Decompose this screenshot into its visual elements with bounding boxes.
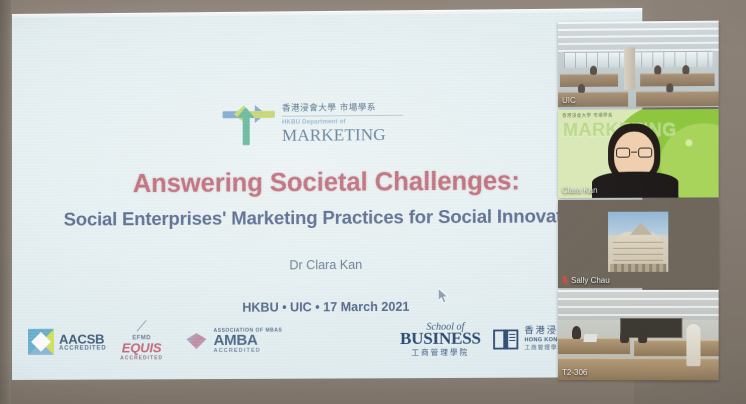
- slide-subtitle: Social Enterprises' Marketing Practices …: [12, 205, 642, 231]
- video-tile-clara-kan[interactable]: 香港浸會大學 市場學系 MARKETING Clara Kan: [558, 109, 719, 198]
- student: [638, 330, 647, 343]
- aacsb-status: ACCREDITED: [59, 345, 106, 351]
- seated-person: [654, 65, 661, 74]
- building-roof: [630, 223, 652, 235]
- aacsb-mark-icon: [28, 329, 54, 355]
- amba-diamond-icon: [184, 331, 208, 351]
- virtual-bg-header: 香港浸會大學 市場學系: [562, 112, 715, 119]
- video-tile-uic[interactable]: UIC: [558, 21, 719, 108]
- lens-left: [616, 148, 630, 158]
- hall-ceiling: [558, 21, 719, 54]
- avatar: [608, 212, 668, 272]
- virtual-bg-chinese: 香港浸會大學 市場學系: [562, 113, 613, 119]
- amba-status: ACCREDITED: [214, 348, 283, 354]
- slide-footer-logos: AACSB ACCREDITED ⟋ EFMD EQUIS ACCREDITED…: [12, 315, 642, 366]
- lens-right: [638, 148, 652, 158]
- tile-label-text: Sally Chau: [571, 276, 610, 285]
- video-tile-sally-chau[interactable]: Sally Chau: [558, 199, 719, 288]
- video-tile-label: Clara Kan: [562, 186, 598, 195]
- student: [572, 326, 581, 339]
- room-background: 香港浸會大學 市場學系 HKBU Department of MARKETING…: [0, 0, 746, 404]
- sob-chinese: 工商管理學院: [400, 349, 481, 357]
- classroom-desk-row: [634, 340, 719, 356]
- microphone-muted-icon: [562, 276, 568, 285]
- video-tile-label: UIC: [562, 96, 576, 105]
- eyeglasses-icon: [616, 148, 652, 158]
- slide-presenter-name: Dr Clara Kan: [12, 256, 642, 274]
- tile-label-text: T2-306: [562, 368, 587, 377]
- laptop: [583, 334, 597, 342]
- seated-person: [590, 66, 597, 75]
- logo-chinese-name: 香港浸會大學 市場學系: [282, 101, 403, 114]
- amba-logo: ASSOCIATION OF MBAS AMBA ACCREDITED: [184, 327, 282, 354]
- projected-slide: 香港浸會大學 市場學系 HKBU Department of MARKETING…: [12, 8, 642, 380]
- mouse-cursor-icon: [438, 288, 449, 303]
- video-conference-panel[interactable]: UIC 香港浸會大學 市場學系 MARKETING Clara Kan: [558, 21, 719, 383]
- wall-left-edge: [0, 0, 11, 404]
- equis-swoosh-icon: ⟋: [120, 322, 163, 336]
- lens-bridge: [631, 152, 637, 153]
- student: [620, 330, 629, 343]
- slide-top-edge: [12, 8, 642, 18]
- equis-name: EQUIS: [120, 341, 163, 355]
- equis-status: ACCREDITED: [120, 355, 163, 361]
- slide-event-line: HKBU • UIC • 17 March 2021: [12, 298, 642, 316]
- arrow-up-icon: [243, 117, 250, 145]
- converging-arrows-icon: [221, 97, 275, 148]
- hall-desk-row: [636, 91, 719, 107]
- hall-pillar: [624, 47, 635, 89]
- slide-title: Answering Societal Challenges:: [12, 166, 642, 200]
- seated-person: [578, 84, 585, 93]
- video-tile-label: T2-306: [562, 368, 587, 377]
- sob-line2: BUSINESS: [400, 330, 481, 348]
- virtual-bg-dot: [685, 139, 692, 146]
- classroom-board: [620, 318, 682, 338]
- video-tile-label: Sally Chau: [562, 276, 610, 285]
- tile-label-text: UIC: [562, 96, 576, 105]
- aacsb-logo: AACSB ACCREDITED: [28, 329, 106, 355]
- amba-name: AMBA: [214, 333, 283, 348]
- building-columns: [610, 264, 666, 272]
- hall-windows: [564, 51, 713, 68]
- equis-logo: ⟋ EFMD EQUIS ACCREDITED: [120, 322, 163, 361]
- classroom-ceiling: [558, 290, 719, 320]
- standing-person: [686, 324, 700, 366]
- tile-label-text: Clara Kan: [562, 186, 598, 195]
- hkbu-marketing-department-logo: 香港浸會大學 市場學系 HKBU Department of MARKETING: [221, 93, 413, 151]
- presenter-shoulders: [592, 171, 678, 197]
- hall-desk-row: [560, 74, 618, 87]
- open-book-icon: [493, 327, 519, 351]
- school-of-business-logo: School of BUSINESS 工商管理學院: [400, 323, 481, 357]
- logo-department-name: MARKETING: [282, 126, 403, 144]
- hall-desk-row: [640, 73, 714, 87]
- aacsb-name: AACSB: [59, 332, 106, 345]
- video-tile-t2-306[interactable]: T2-306: [558, 290, 719, 380]
- logo-text-block: 香港浸會大學 市場學系 HKBU Department of MARKETING: [282, 99, 403, 144]
- seated-person: [666, 83, 673, 92]
- logo-divider: [282, 115, 403, 117]
- seated-person: [682, 65, 689, 74]
